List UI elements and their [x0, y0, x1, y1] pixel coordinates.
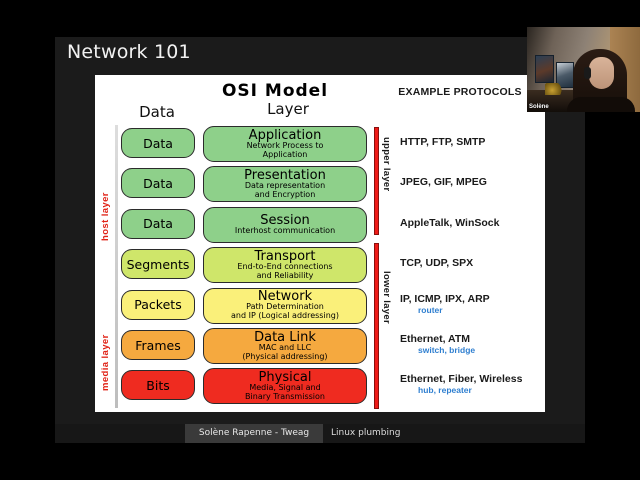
data-unit-pill: Data: [121, 168, 195, 198]
osi-layer-description: Interhost communication: [235, 227, 335, 236]
device-list: switch, bridge: [400, 345, 545, 355]
data-unit-label: Data: [143, 217, 173, 230]
status-presenter-name: Solène Rapenne - Tweag: [185, 424, 323, 443]
osi-layer-pill: TransportEnd-to-End connectionsand Relia…: [203, 247, 367, 283]
osi-layer-description: Network Process toApplication: [247, 142, 324, 160]
data-unit-label: Bits: [146, 379, 169, 392]
webcam-name-label: Solène: [529, 104, 549, 110]
protocol-list: JPEG, GIF, MPEG: [400, 176, 545, 188]
osi-layer-description: Media, Signal andBinary Transmission: [245, 384, 325, 402]
osi-layer-description: Data representationand Encryption: [245, 182, 325, 200]
layer-row: SegmentsTransportEnd-to-End connectionsa…: [95, 246, 545, 286]
data-unit-pill: Packets: [121, 290, 195, 320]
osi-layer-description: Path Determinationand IP (Logical addres…: [231, 303, 339, 321]
device-list: hub, repeater: [400, 385, 545, 395]
example-protocols-cell: JPEG, GIF, MPEG: [400, 176, 545, 188]
webcam-plant: [545, 83, 563, 95]
osi-model-diagram: OSI Model EXAMPLE PROTOCOLS Data Layer h…: [95, 75, 545, 412]
osi-layer-title: Transport: [254, 250, 315, 263]
osi-layer-description: MAC and LLC(Physical addressing): [242, 344, 327, 362]
data-unit-pill: Data: [121, 209, 195, 239]
protocol-list: TCP, UDP, SPX: [400, 257, 545, 269]
data-unit-label: Frames: [135, 339, 180, 352]
data-unit-pill: Frames: [121, 330, 195, 360]
status-talk-title: Linux plumbing: [331, 424, 400, 443]
osi-layer-title: Presentation: [244, 169, 326, 182]
data-unit-label: Data: [143, 137, 173, 150]
example-protocols-cell: HTTP, FTP, SMTP: [400, 136, 545, 148]
protocol-list: HTTP, FTP, SMTP: [400, 136, 545, 148]
osi-layer-title: Session: [260, 214, 310, 227]
webcam-person-face: [589, 57, 614, 89]
osi-layer-pill: NetworkPath Determinationand IP (Logical…: [203, 288, 367, 324]
example-protocols-cell: Ethernet, ATMswitch, bridge: [400, 333, 545, 355]
status-bar: Solène Rapenne - Tweag Linux plumbing: [55, 424, 585, 443]
osi-layer-pill: Data LinkMAC and LLC(Physical addressing…: [203, 328, 367, 364]
layer-row: DataApplicationNetwork Process toApplica…: [95, 125, 545, 165]
osi-layer-title: Physical: [259, 371, 312, 384]
osi-layer-pill: SessionInterhost communication: [203, 207, 367, 243]
osi-layer-pill: PresentationData representationand Encry…: [203, 166, 367, 202]
osi-layer-pill: PhysicalMedia, Signal andBinary Transmis…: [203, 368, 367, 404]
column-header-data: Data: [125, 103, 189, 121]
presentation-slide: Network 101 OSI Model EXAMPLE PROTOCOLS …: [55, 37, 585, 443]
webcam-poster-left: [535, 55, 554, 83]
protocol-list: Ethernet, ATM: [400, 333, 545, 345]
layer-row: DataSessionInterhost communicationAppleT…: [95, 206, 545, 246]
layer-row: FramesData LinkMAC and LLC(Physical addr…: [95, 327, 545, 367]
column-header-layer: Layer: [208, 100, 368, 118]
example-protocols-cell: IP, ICMP, IPX, ARProuter: [400, 293, 545, 315]
device-list: router: [400, 305, 545, 315]
protocol-list: Ethernet, Fiber, Wireless: [400, 373, 545, 385]
example-protocols-cell: AppleTalk, WinSock: [400, 217, 545, 229]
webcam-headphones: [584, 67, 591, 79]
protocol-list: AppleTalk, WinSock: [400, 217, 545, 229]
protocol-list: IP, ICMP, IPX, ARP: [400, 293, 545, 305]
data-unit-pill: Data: [121, 128, 195, 158]
data-unit-label: Segments: [127, 258, 190, 271]
osi-layer-description: End-to-End connectionsand Reliability: [237, 263, 332, 281]
protocols-column-title: EXAMPLE PROTOCOLS: [380, 86, 540, 98]
screen: Network 101 OSI Model EXAMPLE PROTOCOLS …: [0, 0, 640, 480]
osi-layer-title: Data Link: [254, 331, 316, 344]
layer-row: DataPresentationData representationand E…: [95, 165, 545, 205]
data-unit-pill: Segments: [121, 249, 195, 279]
layer-row: PacketsNetworkPath Determinationand IP (…: [95, 287, 545, 327]
page-title: Network 101: [67, 41, 191, 63]
example-protocols-cell: TCP, UDP, SPX: [400, 257, 545, 269]
data-unit-pill: Bits: [121, 370, 195, 400]
webcam-person-body: [567, 97, 635, 112]
example-protocols-cell: Ethernet, Fiber, Wirelesshub, repeater: [400, 373, 545, 395]
layer-row: BitsPhysicalMedia, Signal andBinary Tran…: [95, 367, 545, 407]
osi-layer-pill: ApplicationNetwork Process toApplication: [203, 126, 367, 162]
osi-layer-title: Application: [249, 129, 322, 142]
webcam-video-overlay[interactable]: Solène: [527, 27, 640, 112]
data-unit-label: Packets: [134, 298, 181, 311]
diagram-title: OSI Model: [165, 81, 385, 101]
data-unit-label: Data: [143, 177, 173, 190]
